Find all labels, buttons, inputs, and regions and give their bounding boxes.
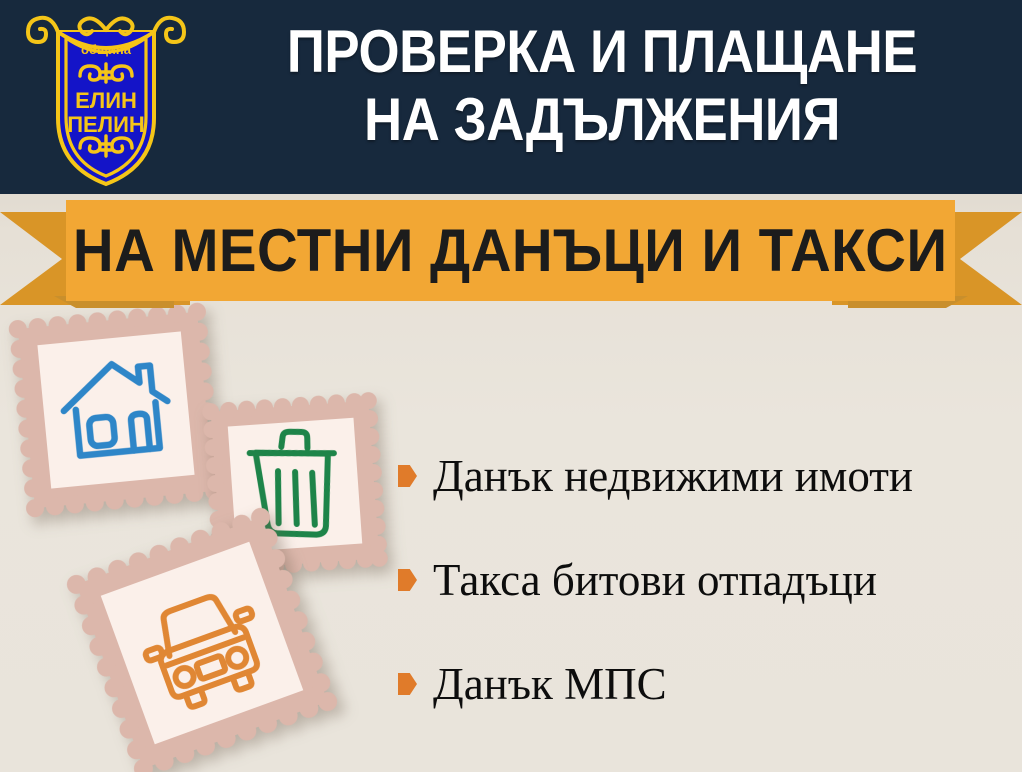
list-item[interactable]: Данък недвижими имоти (398, 424, 1008, 528)
list-item-label: Данък МПС (433, 662, 667, 707)
logo-text-obshtina: община (81, 42, 132, 57)
logo-text-pelin: ПЕЛИН (67, 112, 145, 137)
list-item[interactable]: Такса битови отпадъци (398, 528, 1008, 632)
page-title-line-2: НА ЗАДЪЛЖЕНИЯ (245, 86, 960, 154)
ribbon-label: НА МЕСТНИ ДАНЪЦИ И ТАКСИ (73, 221, 948, 281)
page-title: ПРОВЕРКА И ПЛАЩАНЕ НА ЗАДЪЛЖЕНИЯ (245, 18, 960, 155)
stamp-shape-house (9, 303, 223, 517)
coat-of-arms-icon: община ЕЛИН ПЕЛИН (22, 8, 190, 188)
subtitle-ribbon: НА МЕСТНИ ДАНЪЦИ И ТАКСИ (0, 196, 1022, 312)
tax-type-list: Данък недвижими имоти Такса битови отпад… (398, 424, 1008, 736)
header-bar: община ЕЛИН ПЕЛИН ПРОВЕРКА И ПЛАЩАНЕ НА … (0, 0, 1022, 194)
arrow-bullet-icon (398, 465, 417, 487)
ribbon-banner: НА МЕСТНИ ДАНЪЦИ И ТАКСИ (66, 200, 955, 301)
list-item[interactable]: Данък МПС (398, 632, 1008, 736)
logo-text-elin: ЕЛИН (75, 88, 137, 113)
stamp-card-house (9, 303, 223, 517)
stamp-scallop-edge-house (8, 302, 224, 518)
arrow-bullet-icon (398, 569, 417, 591)
list-item-label: Такса битови отпадъци (433, 558, 877, 603)
municipality-logo: община ЕЛИН ПЕЛИН (22, 8, 190, 188)
list-item-label: Данък недвижими имоти (433, 454, 913, 499)
page-title-line-1: ПРОВЕРКА И ПЛАЩАНЕ (245, 18, 960, 86)
poster-canvas: община ЕЛИН ПЕЛИН ПРОВЕРКА И ПЛАЩАНЕ НА … (0, 0, 1022, 772)
arrow-bullet-icon (398, 673, 417, 695)
